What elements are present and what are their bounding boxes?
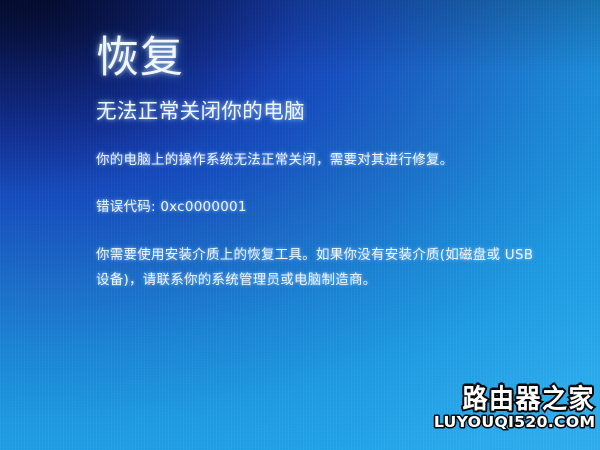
recovery-instructions-line-2: 设备)，请联系你的系统管理员或电脑制造商。 (96, 270, 541, 290)
error-code-line: 错误代码: 0xc0000001 (96, 170, 556, 217)
page-title: 恢复 (96, 34, 556, 82)
recovery-content: 恢复 无法正常关闭你的电脑 你的电脑上的操作系统无法正常关闭，需要对其进行修复。… (96, 34, 556, 290)
watermark-site-url: LUYOUQI520.COM (434, 415, 595, 431)
recovery-screen: 恢复 无法正常关闭你的电脑 你的电脑上的操作系统无法正常关闭，需要对其进行修复。… (0, 0, 600, 450)
recovery-instructions: 你需要使用安装介质上的恢复工具。如果你没有安装介质(如磁盘或 USB 设备)，请… (96, 217, 541, 290)
site-watermark: 路由器之家 LUYOUQI520.COM (437, 387, 595, 431)
recovery-instructions-line-1: 你需要使用安装介质上的恢复工具。如果你没有安装介质(如磁盘或 USB (96, 245, 541, 265)
watermark-site-name: 路由器之家 (437, 385, 595, 412)
recovery-description: 你的电脑上的操作系统无法正常关闭，需要对其进行修复。 (96, 150, 556, 170)
recovery-subtitle: 无法正常关闭你的电脑 (96, 98, 556, 126)
